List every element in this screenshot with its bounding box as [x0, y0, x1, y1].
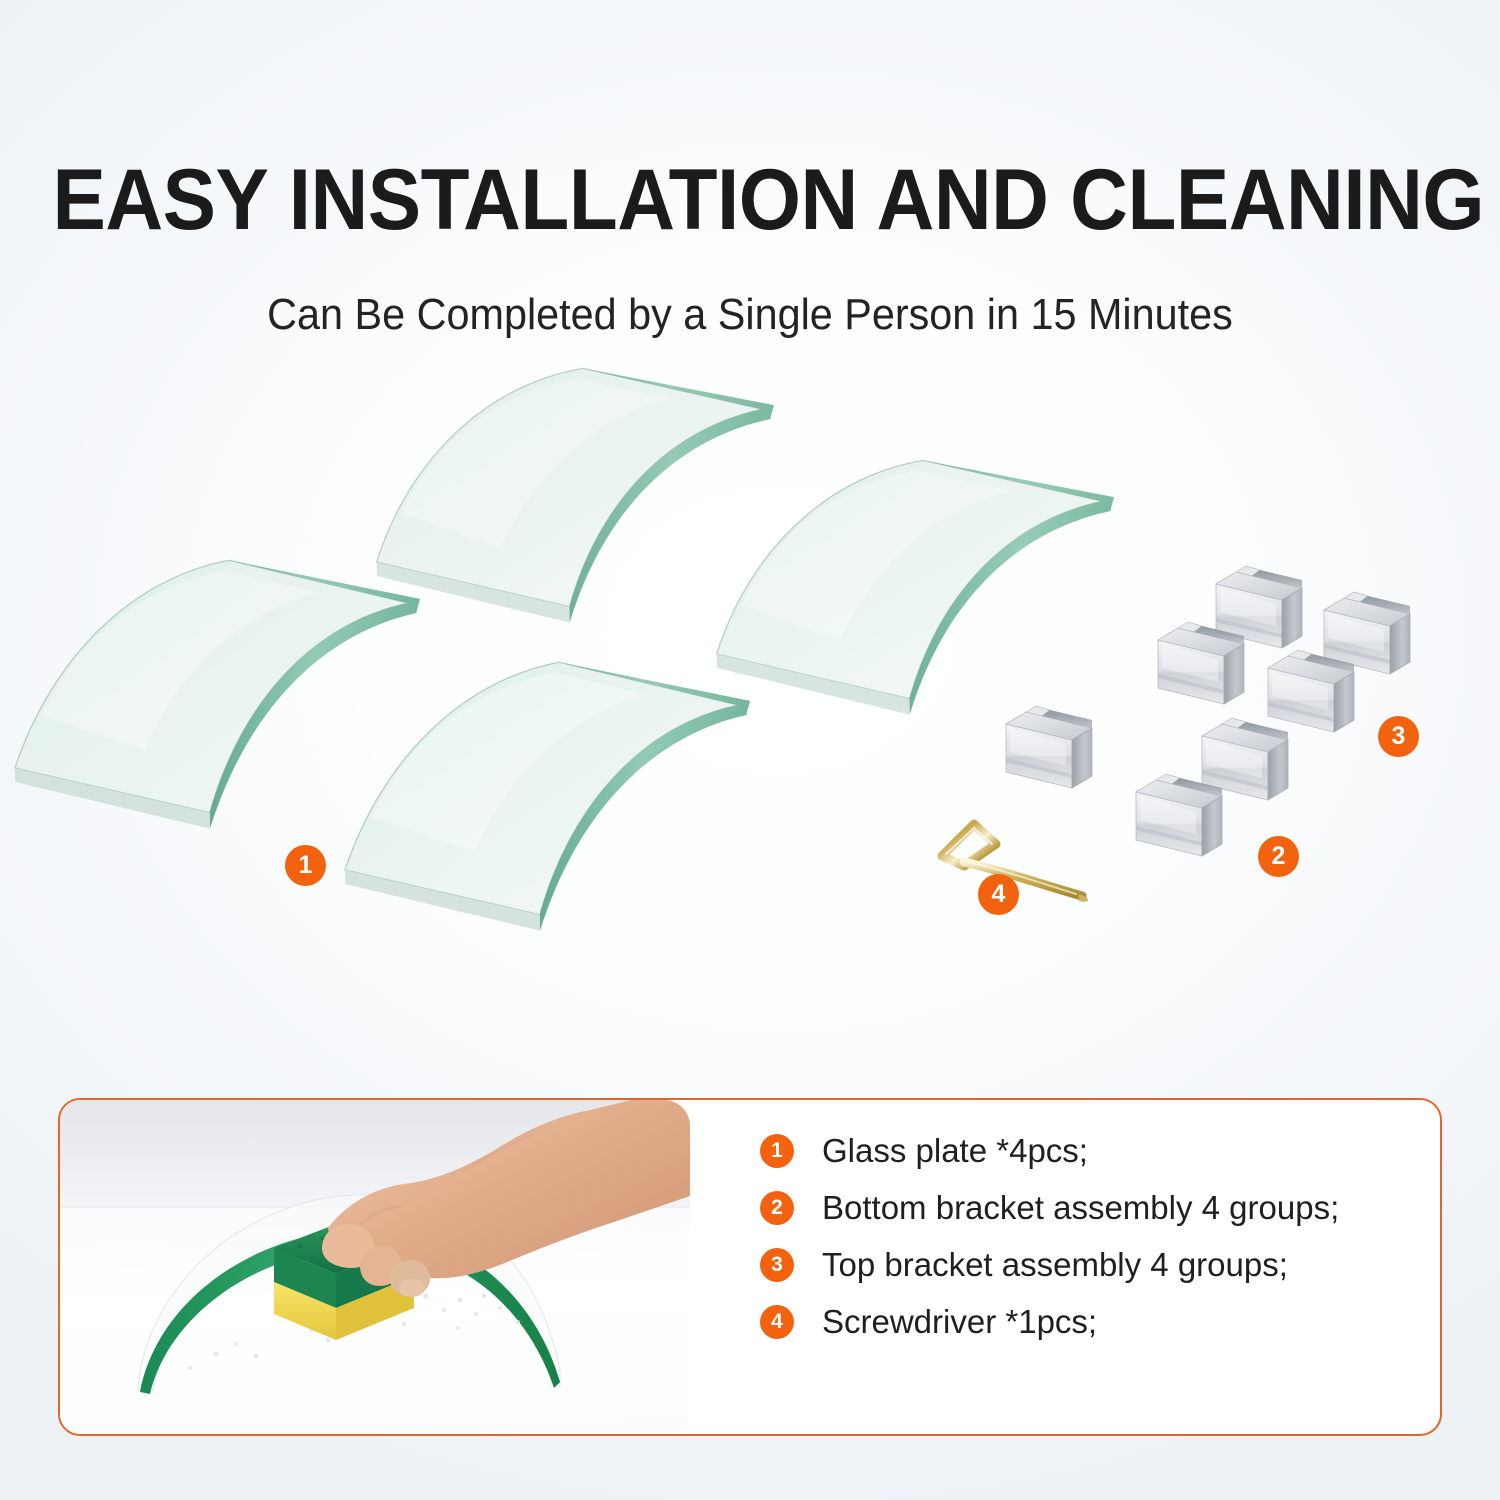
list-item: 1 Glass plate *4pcs;: [760, 1122, 1420, 1179]
glass-bracket-clamp: [1000, 702, 1128, 798]
list-item: 3 Top bracket assembly 4 groups;: [760, 1236, 1420, 1293]
callout-badge-1: 1: [285, 845, 326, 886]
legend-badge-1: 1: [760, 1134, 794, 1168]
glass-bracket-clamp: [1318, 588, 1446, 684]
infographic-page: EASY INSTALLATION AND CLEANING Can Be Co…: [0, 0, 1500, 1500]
page-title: EASY INSTALLATION AND CLEANING: [53, 152, 1448, 248]
glass-plate-2: [369, 356, 845, 694]
legend-badge-4: 4: [760, 1305, 794, 1339]
glass-plate-1: [7, 546, 483, 884]
cleaning-demo-photo: [60, 1100, 690, 1434]
list-item: 4 Screwdriver *1pcs;: [760, 1293, 1420, 1350]
parts-list-panel: 1 Glass plate *4pcs; 2 Bottom bracket as…: [58, 1098, 1442, 1436]
glass-plate-3: [337, 646, 813, 984]
page-subtitle: Can Be Completed by a Single Person in 1…: [45, 288, 1455, 342]
legend-label-3: Top bracket assembly 4 groups;: [822, 1246, 1288, 1284]
callout-badge-2: 2: [1258, 836, 1299, 877]
glass-bracket-clamp: [1152, 618, 1280, 714]
callout-badge-3: 3: [1378, 716, 1419, 757]
parts-legend-list: 1 Glass plate *4pcs; 2 Bottom bracket as…: [760, 1122, 1420, 1350]
glass-bracket-clamp: [1262, 646, 1390, 742]
screwdriver-icon: [930, 810, 1110, 910]
legend-label-2: Bottom bracket assembly 4 groups;: [822, 1189, 1339, 1227]
glass-bracket-clamp: [1210, 562, 1338, 658]
legend-label-4: Screwdriver *1pcs;: [822, 1303, 1097, 1341]
legend-badge-2: 2: [760, 1191, 794, 1225]
product-parts-illustration: [0, 350, 1500, 1090]
list-item: 2 Bottom bracket assembly 4 groups;: [760, 1179, 1420, 1236]
legend-badge-3: 3: [760, 1248, 794, 1282]
glass-bracket-clamp: [1196, 714, 1324, 810]
callout-badge-4: 4: [978, 874, 1019, 915]
glass-plate-4: [709, 446, 1185, 784]
legend-label-1: Glass plate *4pcs;: [822, 1132, 1088, 1170]
glass-bracket-clamp: [1130, 770, 1258, 866]
